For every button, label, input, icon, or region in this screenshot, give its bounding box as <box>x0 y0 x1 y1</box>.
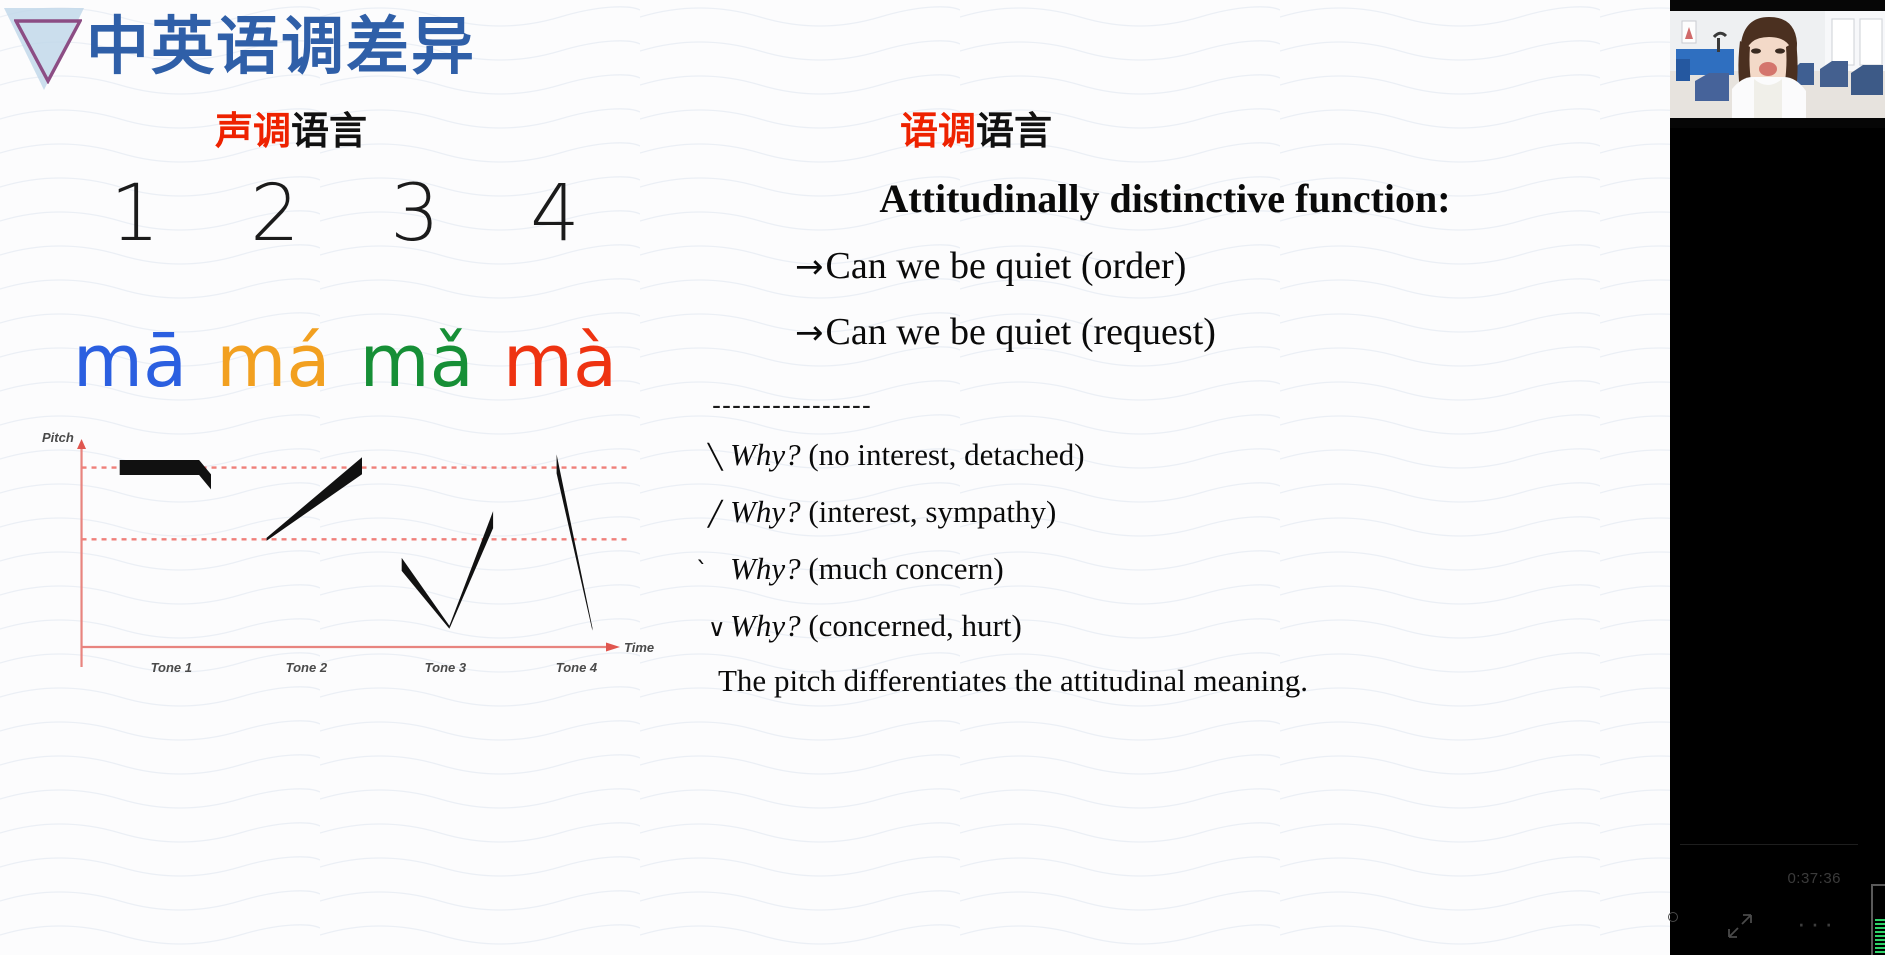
svg-text:Tone 3: Tone 3 <box>425 660 467 675</box>
why-word: Why? <box>730 551 801 586</box>
rising-tone-mark-icon: ╱ <box>708 497 730 532</box>
left-heading-highlight: 声调 <box>215 111 291 153</box>
right-column-heading: 语调语言 <box>900 100 1052 155</box>
screen-root: 中英语调差异 声调语言 语调语言 1 2 3 4 mā má mǎ mà <box>0 0 1885 955</box>
audio-level-meter <box>1871 884 1885 955</box>
triangle-outline-icon <box>14 18 82 84</box>
tone-number: 3 <box>355 175 475 253</box>
example-line: →Can we be quiet (order) <box>700 244 1640 288</box>
section-subtitle: Attitudinally distinctive function: <box>690 175 1640 222</box>
left-column-heading: 声调语言 <box>215 100 367 155</box>
example-text: Can we be quiet (request) <box>826 311 1216 353</box>
right-column: Attitudinally distinctive function: →Can… <box>700 175 1640 699</box>
more-options-icon[interactable]: ··· <box>1797 910 1838 936</box>
closing-statement: The pitch differentiates the attitudinal… <box>700 663 1640 699</box>
audio-level-bars <box>1875 919 1885 955</box>
svg-text:Pitch: Pitch <box>42 430 74 445</box>
tone-number: 4 <box>495 175 615 253</box>
why-word: Why? <box>730 494 801 529</box>
right-heading-highlight: 语调 <box>900 111 976 153</box>
svg-text:Tone 4: Tone 4 <box>556 660 598 675</box>
list-item: ╱Why? (interest, sympathy) <box>700 490 1640 535</box>
arrow-icon: → <box>795 247 824 287</box>
falling-tone-mark-icon: ╲ <box>708 440 730 475</box>
expand-arrows-icon[interactable] <box>1726 912 1754 940</box>
svg-text:Time: Time <box>624 640 654 655</box>
why-gloss: (no interest, detached) <box>808 437 1084 472</box>
webcam-video[interactable] <box>1670 0 1885 128</box>
tone-number-row: 1 2 3 4 <box>75 175 615 253</box>
why-gloss: (concerned, hurt) <box>808 608 1021 643</box>
why-gloss: (much concern) <box>808 551 1003 586</box>
pinyin-row: mā má mǎ mà <box>60 325 630 397</box>
high-fall-tone-mark-icon: ̀ <box>708 554 730 589</box>
example-text: Can we be quiet (order) <box>826 245 1187 287</box>
logo <box>4 2 99 107</box>
why-word: Why? <box>730 437 801 472</box>
panel-divider <box>1680 844 1858 845</box>
video-sidebar: 0:37:36 ··· <box>1670 0 1885 955</box>
tone-pitch-chart: PitchTimeTone 1Tone 2Tone 3Tone 4 <box>38 430 658 695</box>
tone-number: 1 <box>75 175 195 253</box>
pinyin-syllable: mà <box>490 325 630 397</box>
pinyin-syllable: mā <box>60 325 200 397</box>
video-timestamp: 0:37:36 <box>1787 870 1841 887</box>
svg-text:Tone 2: Tone 2 <box>286 660 328 675</box>
tone-number: 2 <box>215 175 335 253</box>
fall-rise-tone-mark-icon: ∨ <box>708 611 730 646</box>
why-gloss: (interest, sympathy) <box>808 494 1056 529</box>
why-word: Why? <box>730 608 801 643</box>
presentation-slide: 中英语调差异 声调语言 语调语言 1 2 3 4 mā má mǎ mà <box>0 0 1670 955</box>
pinyin-syllable: mǎ <box>347 325 487 397</box>
page-title: 中英语调差异 <box>86 14 476 80</box>
example-line: →Can we be quiet (request) <box>700 310 1640 354</box>
list-item: ∨Why? (concerned, hurt) <box>700 604 1640 649</box>
left-heading-rest: 语言 <box>291 111 367 153</box>
pinyin-syllable: má <box>203 325 343 397</box>
left-column: 1 2 3 4 mā má mǎ mà PitchTimeTone 1Tone … <box>20 175 670 745</box>
arrow-icon: → <box>795 313 824 353</box>
right-heading-rest: 语言 <box>976 111 1052 153</box>
mic-indicator-icon <box>1668 912 1678 922</box>
svg-text:Tone 1: Tone 1 <box>151 660 192 675</box>
list-item: ̀ Why? (much concern) <box>700 547 1640 592</box>
dashed-divider: ---------------- <box>700 390 1640 421</box>
list-item: ╲Why? (no interest, detached) <box>700 433 1640 478</box>
webcam-frame <box>1670 11 1885 118</box>
